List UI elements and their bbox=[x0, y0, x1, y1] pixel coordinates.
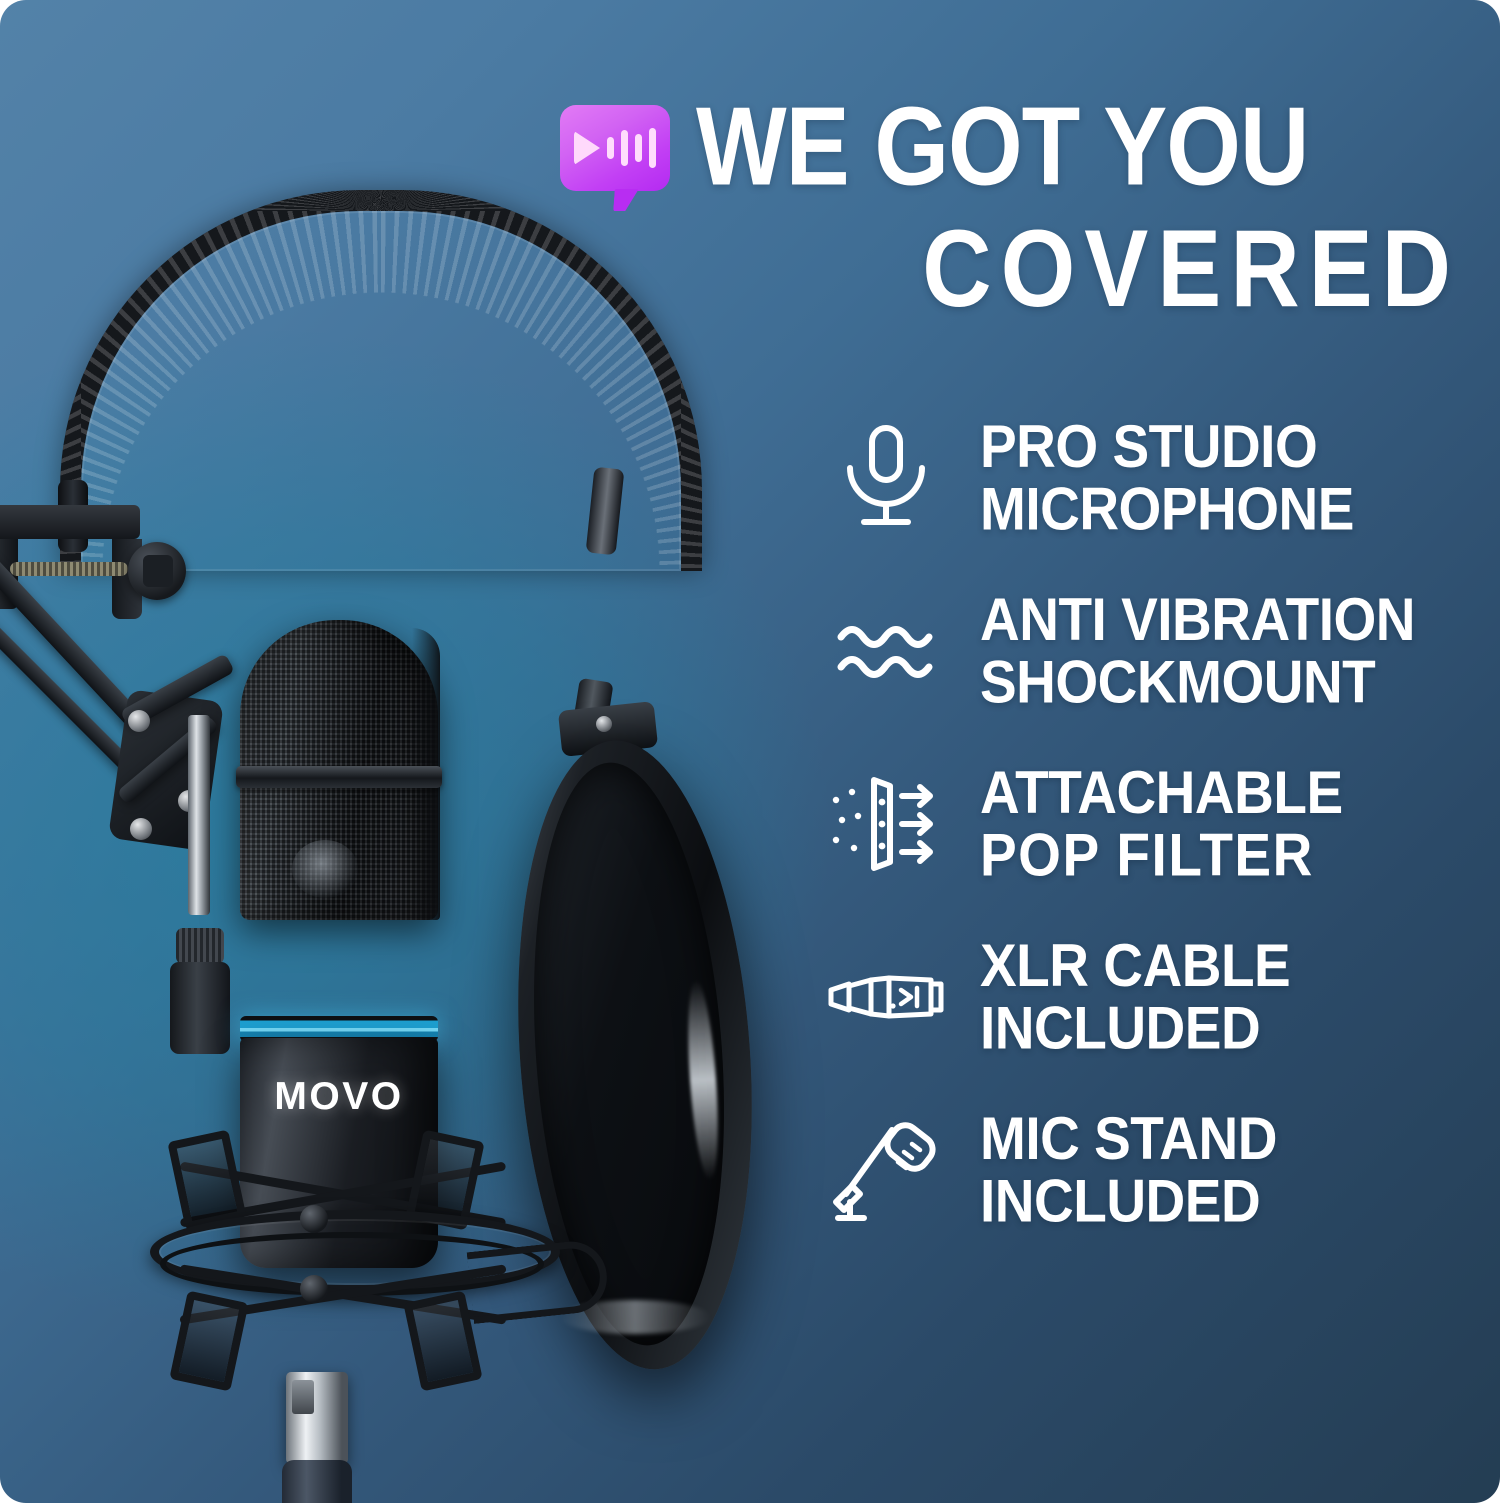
waveform-bar bbox=[635, 134, 642, 162]
feature-label: PRO STUDIO MICROPHONE bbox=[980, 416, 1354, 541]
waveform-bar bbox=[607, 137, 614, 159]
headline-line-1: WE GOT YOU bbox=[696, 95, 1308, 199]
play-triangle-icon bbox=[574, 131, 600, 165]
waveform-bar bbox=[621, 130, 628, 166]
mic-mount-post bbox=[188, 715, 210, 915]
mic-mount-body bbox=[170, 962, 230, 1054]
feature-label-line1: ANTI VIBRATION bbox=[980, 585, 1415, 653]
microphone-cap-ring bbox=[236, 766, 442, 788]
play-waveform-speech-bubble-logo bbox=[560, 105, 670, 191]
boom-arm-bolt bbox=[130, 818, 152, 840]
feature-label-line2: INCLUDED bbox=[980, 1170, 1277, 1232]
microphone-capsule-dot bbox=[292, 840, 358, 898]
feature-label-line2: SHOCKMOUNT bbox=[980, 651, 1415, 713]
mic-mount-collar bbox=[176, 928, 224, 964]
xlr-connector-latch bbox=[292, 1380, 314, 1414]
feature-label-line1: MIC STAND bbox=[980, 1104, 1277, 1172]
pop-filter-screw bbox=[596, 716, 612, 732]
feature-label-line2: POP FILTER bbox=[980, 824, 1343, 886]
feature-label: XLR CABLE INCLUDED bbox=[980, 935, 1290, 1060]
feature-item-anti-vibration-shockmount: ANTI VIBRATION SHOCKMOUNT bbox=[826, 591, 1486, 711]
headline-line-2: COVERED bbox=[560, 215, 1460, 324]
feature-item-mic-stand-included: MIC STAND INCLUDED bbox=[826, 1110, 1486, 1230]
feature-item-attachable-pop-filter: ATTACHABLE POP FILTER bbox=[826, 764, 1486, 884]
product-photo: MOVO bbox=[0, 150, 820, 1503]
feature-list: PRO STUDIO MICROPHONE ANTI VIBRATION SHO… bbox=[826, 418, 1486, 1230]
microphone-brand-label: MOVO bbox=[240, 1075, 438, 1119]
pop-filter-screen-icon bbox=[826, 764, 946, 884]
header: WE GOT YOU COVERED bbox=[560, 95, 1460, 311]
desk-clamp-screw bbox=[10, 562, 128, 576]
feature-item-pro-studio-microphone: PRO STUDIO MICROPHONE bbox=[826, 418, 1486, 538]
xlr-connector-icon bbox=[826, 937, 946, 1057]
infographic-canvas: MOVO bbox=[0, 0, 1500, 1503]
xlr-connector-boot bbox=[282, 1460, 352, 1503]
feature-label: ANTI VIBRATION SHOCKMOUNT bbox=[980, 589, 1415, 714]
desk-clamp-body bbox=[0, 505, 140, 539]
waveform-bar bbox=[649, 128, 656, 168]
vibration-waves-icon bbox=[826, 591, 946, 711]
shock-mount-claw bbox=[167, 1130, 246, 1231]
feature-label-line1: ATTACHABLE bbox=[980, 758, 1343, 826]
feature-label-line2: INCLUDED bbox=[980, 997, 1290, 1059]
feature-label-line1: XLR CABLE bbox=[980, 931, 1290, 999]
shock-mount-claw bbox=[403, 1291, 482, 1392]
mic-stand-boom-arm-icon bbox=[826, 1110, 946, 1230]
feature-item-xlr-cable-included: XLR CABLE INCLUDED bbox=[826, 937, 1486, 1057]
feature-label: ATTACHABLE POP FILTER bbox=[980, 762, 1343, 887]
feature-label: MIC STAND INCLUDED bbox=[980, 1108, 1277, 1233]
shock-mount-knob bbox=[300, 1275, 328, 1303]
feature-label-line2: MICROPHONE bbox=[980, 478, 1354, 540]
feature-label-line1: PRO STUDIO bbox=[980, 412, 1317, 480]
desk-clamp-knob-face bbox=[143, 555, 173, 587]
shock-mount-claw bbox=[169, 1291, 248, 1392]
microphone-icon bbox=[826, 418, 946, 538]
boom-arm-bolt bbox=[128, 710, 150, 732]
shock-mount-knob bbox=[300, 1205, 328, 1233]
